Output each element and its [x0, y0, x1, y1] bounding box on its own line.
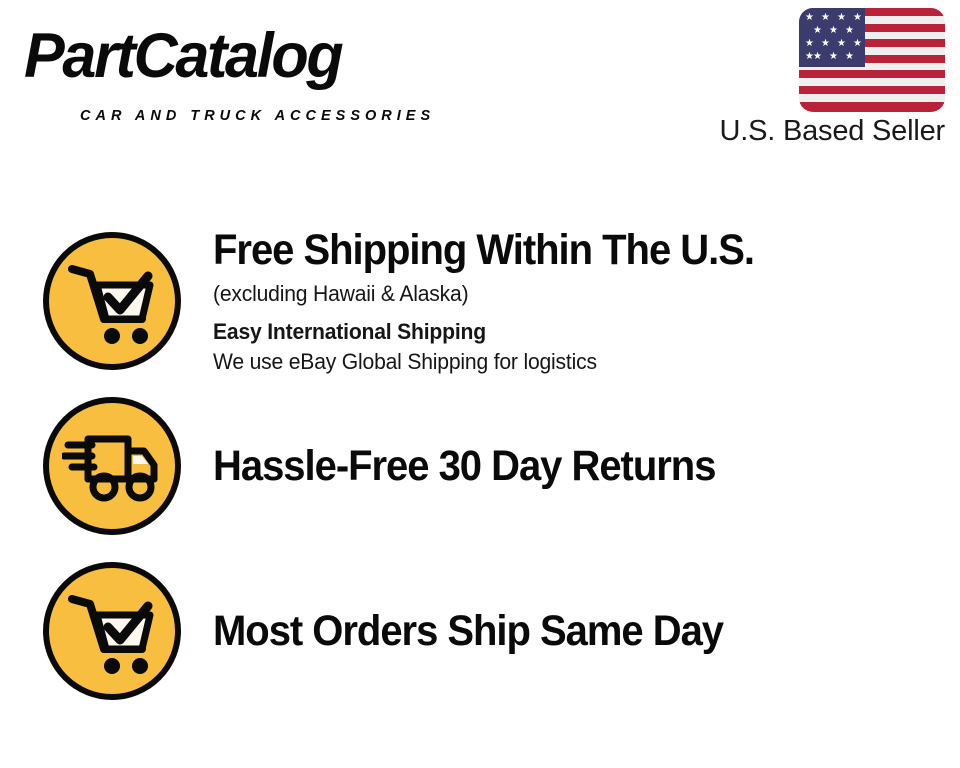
shopping-cart-check-icon: [43, 562, 181, 700]
flag-canton: ★ ★ ★ ★ ★ ★ ★ ★ ★ ★ ★ ★ ★ ★ ★: [799, 8, 865, 67]
feature-list: Free Shipping Within The U.S. (excluding…: [0, 218, 960, 713]
brand-logo: PartCatalog CAR AND TRUCK ACCESSORIES: [24, 22, 474, 114]
feature-text: Free Shipping Within The U.S. (excluding…: [181, 225, 960, 377]
feature-row: Hassle-Free 30 Day Returns: [0, 383, 960, 548]
feature-title: Most Orders Ship Same Day: [213, 606, 889, 656]
feature-subtitle: We use eBay Global Shipping for logistic…: [213, 347, 911, 377]
brand-wordmark: PartCatalog: [24, 22, 341, 90]
feature-subtitle-strong: Easy International Shipping: [213, 317, 911, 347]
feature-row: Free Shipping Within The U.S. (excluding…: [0, 218, 960, 383]
delivery-truck-icon: [43, 397, 181, 535]
shopping-cart-check-icon: [43, 232, 181, 370]
feature-subtitle: (excluding Hawaii & Alaska): [213, 279, 911, 309]
feature-title: Hassle-Free 30 Day Returns: [213, 441, 889, 491]
page-header: PartCatalog CAR AND TRUCK ACCESSORIES ★ …: [0, 0, 960, 168]
feature-text: Hassle-Free 30 Day Returns: [181, 441, 960, 491]
brand-tagline: CAR AND TRUCK ACCESSORIES: [80, 108, 435, 124]
feature-title: Free Shipping Within The U.S.: [213, 225, 889, 275]
feature-text: Most Orders Ship Same Day: [181, 606, 960, 656]
seller-label: U.S. Based Seller: [720, 114, 946, 148]
us-flag-icon: ★ ★ ★ ★ ★ ★ ★ ★ ★ ★ ★ ★ ★ ★ ★: [799, 8, 945, 112]
feature-row: Most Orders Ship Same Day: [0, 548, 960, 713]
